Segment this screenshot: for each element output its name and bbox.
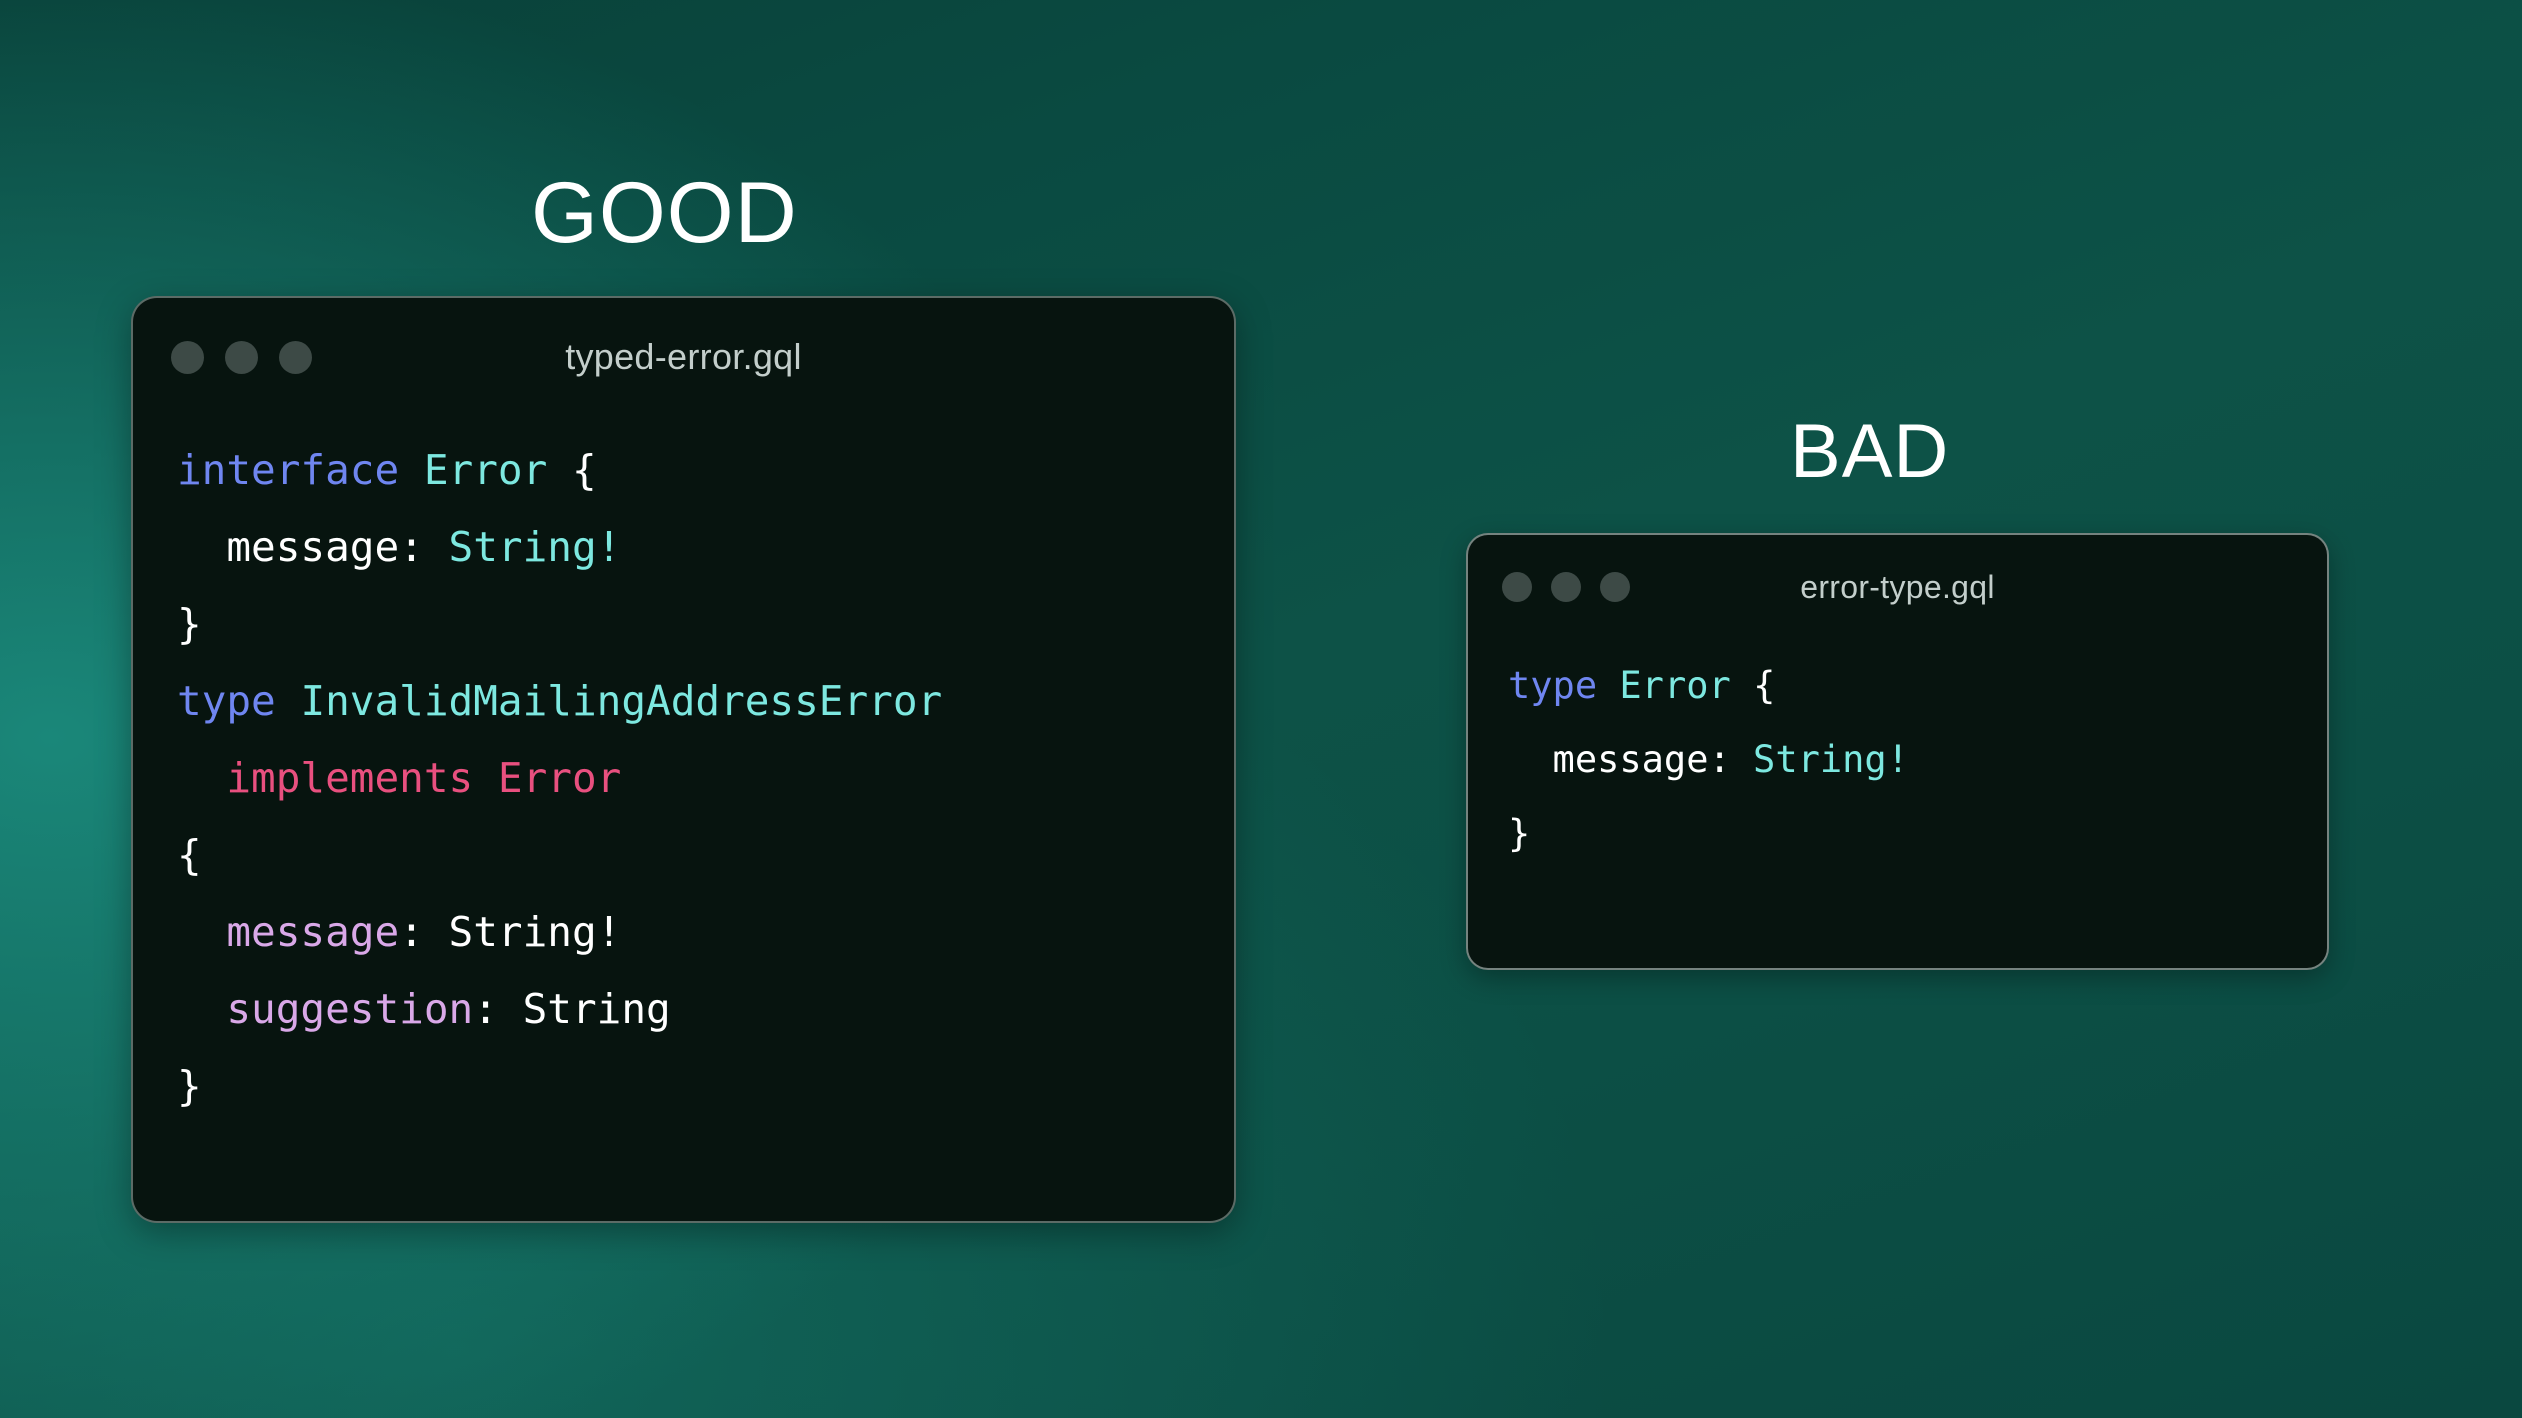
code-token-plain bbox=[547, 446, 572, 494]
code-block-bad: type Error { message: String! } bbox=[1468, 639, 2327, 871]
code-line: implements Error bbox=[177, 740, 1234, 817]
code-token-punct: } bbox=[177, 1062, 202, 1110]
code-token-plain bbox=[1731, 664, 1753, 707]
code-line: } bbox=[177, 586, 1234, 663]
code-token-plain: : bbox=[399, 523, 448, 571]
code-token-plain bbox=[276, 677, 301, 725]
code-line: type Error { bbox=[1508, 649, 2327, 723]
code-block-good: interface Error { message: String! } typ… bbox=[133, 416, 1234, 1125]
code-token-plain bbox=[177, 908, 226, 956]
code-line: } bbox=[177, 1048, 1234, 1125]
code-token-scalar: String! bbox=[449, 523, 622, 571]
code-token-typename: Error bbox=[424, 446, 547, 494]
window-controls-good bbox=[171, 341, 312, 374]
code-token-plain bbox=[1597, 664, 1619, 707]
code-token-plain: String bbox=[523, 985, 671, 1033]
window-dot-close-icon[interactable] bbox=[1502, 572, 1532, 602]
code-token-plain: message bbox=[1508, 738, 1708, 781]
code-token-punct: { bbox=[1753, 664, 1775, 707]
code-line: message: String! bbox=[1508, 723, 2327, 797]
code-token-plain bbox=[177, 985, 226, 1033]
window-dot-minimize-icon[interactable] bbox=[1551, 572, 1581, 602]
window-controls-bad bbox=[1502, 572, 1630, 602]
section-heading-good: GOOD bbox=[531, 170, 798, 256]
window-dot-maximize-icon[interactable] bbox=[279, 341, 312, 374]
code-token-keyword: interface bbox=[177, 446, 399, 494]
code-token-plain: : bbox=[473, 985, 522, 1033]
code-token-plain: : bbox=[1708, 738, 1753, 781]
window-titlebar-good: typed-error.gql bbox=[133, 298, 1234, 416]
code-token-field: message bbox=[226, 908, 399, 956]
code-line: interface Error { bbox=[177, 432, 1234, 509]
code-token-plain bbox=[177, 754, 226, 802]
code-token-field: suggestion bbox=[226, 985, 473, 1033]
code-window-good: typed-error.gql interface Error { messag… bbox=[131, 296, 1236, 1223]
code-token-punct: { bbox=[572, 446, 597, 494]
code-token-typename: Error bbox=[1619, 664, 1730, 707]
code-token-punct: { bbox=[177, 831, 202, 879]
code-token-keyword: type bbox=[1508, 664, 1597, 707]
code-token-plain: : bbox=[399, 908, 448, 956]
code-token-punct: } bbox=[1508, 812, 1530, 855]
window-dot-close-icon[interactable] bbox=[171, 341, 204, 374]
code-token-plain: String! bbox=[449, 908, 622, 956]
code-token-plain bbox=[399, 446, 424, 494]
code-window-bad: error-type.gql type Error { message: Str… bbox=[1466, 533, 2329, 970]
code-token-plain: message bbox=[177, 523, 399, 571]
code-token-punct: } bbox=[177, 600, 202, 648]
window-dot-minimize-icon[interactable] bbox=[225, 341, 258, 374]
code-line: message: String! bbox=[177, 509, 1234, 586]
code-token-implements: implements Error bbox=[226, 754, 621, 802]
section-heading-bad: BAD bbox=[1790, 414, 1949, 490]
window-titlebar-bad: error-type.gql bbox=[1468, 535, 2327, 639]
code-line: { bbox=[177, 817, 1234, 894]
code-line: } bbox=[1508, 797, 2327, 871]
slide-canvas: GOOD typed-error.gql interface Error { m… bbox=[0, 0, 2522, 1418]
code-line: type InvalidMailingAddressError bbox=[177, 663, 1234, 740]
code-token-typename: InvalidMailingAddressError bbox=[300, 677, 942, 725]
code-token-scalar: String! bbox=[1753, 738, 1909, 781]
code-token-keyword: type bbox=[177, 677, 276, 725]
window-dot-maximize-icon[interactable] bbox=[1600, 572, 1630, 602]
code-line: message: String! bbox=[177, 894, 1234, 971]
code-line: suggestion: String bbox=[177, 971, 1234, 1048]
